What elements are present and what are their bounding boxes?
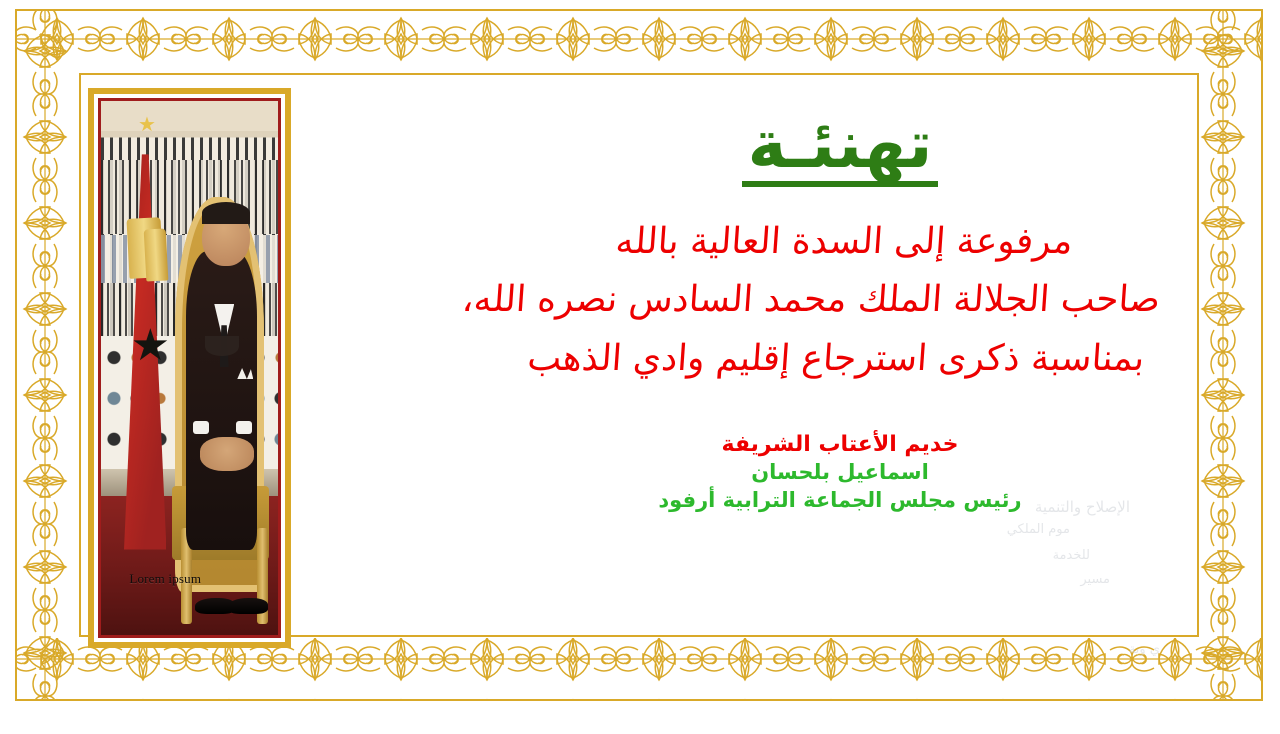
body-line-3: بمناسبة ذكرى استرجاع إقليم وادي الذهب: [514, 330, 1158, 388]
ghost-text-line-3: للخدمة: [1053, 548, 1090, 563]
figure-shoe-right: [228, 598, 268, 614]
ghost-text-line-5: ي وبة: [1129, 642, 1160, 657]
signature-name: اسماعيل بلحسان: [520, 459, 1160, 487]
congratulation-body: مرفوعة إلى السدة العالية بالله صاحب الجل…: [514, 213, 1166, 388]
figure-hair: [202, 202, 250, 224]
body-line-1: مرفوعة إلى السدة العالية بالله: [522, 213, 1166, 271]
card-text-column: تهنئـة مرفوعة إلى السدة العالية بالله صا…: [520, 110, 1160, 515]
portrait-frame-gap: ★ ★ Lorem ipsum: [94, 94, 285, 642]
ghost-text-line-2: موم الملكي: [1007, 522, 1070, 537]
figure-beard: [205, 336, 239, 356]
figure-cuff-left: [193, 421, 209, 434]
pentagram-star-icon: ★: [129, 325, 171, 367]
page-title: تهنئـة: [742, 110, 939, 187]
ghost-text-line-4: مسير: [1080, 572, 1110, 587]
photo-caption: Lorem ipsum: [129, 571, 201, 587]
flag-finial-star-icon: ★: [140, 117, 156, 133]
figure-hands: [200, 437, 254, 471]
figure-cuff-right: [236, 421, 252, 434]
portrait-frame: ★ ★ Lorem ipsum: [88, 88, 291, 648]
body-line-2: صاحب الجلالة الملك محمد السادس نصره الله…: [518, 272, 1162, 330]
signature-position: رئيس مجلس الجماعة الترابية أرفود: [520, 487, 1160, 515]
portrait-frame-inner: ★ ★ Lorem ipsum: [98, 98, 281, 638]
flag-tassel-right: [144, 229, 169, 282]
congratulation-card: ★ ★ Lorem ipsum الإصلاح والتنمية موم الم…: [0, 0, 1280, 734]
figure-suit: [186, 251, 257, 550]
signature-honorific: خديم الأعتاب الشريفة: [520, 430, 1160, 459]
signature-block: خديم الأعتاب الشريفة اسماعيل بلحسان رئيس…: [520, 430, 1160, 514]
king-portrait-photo: ★ ★ Lorem ipsum: [101, 101, 278, 635]
